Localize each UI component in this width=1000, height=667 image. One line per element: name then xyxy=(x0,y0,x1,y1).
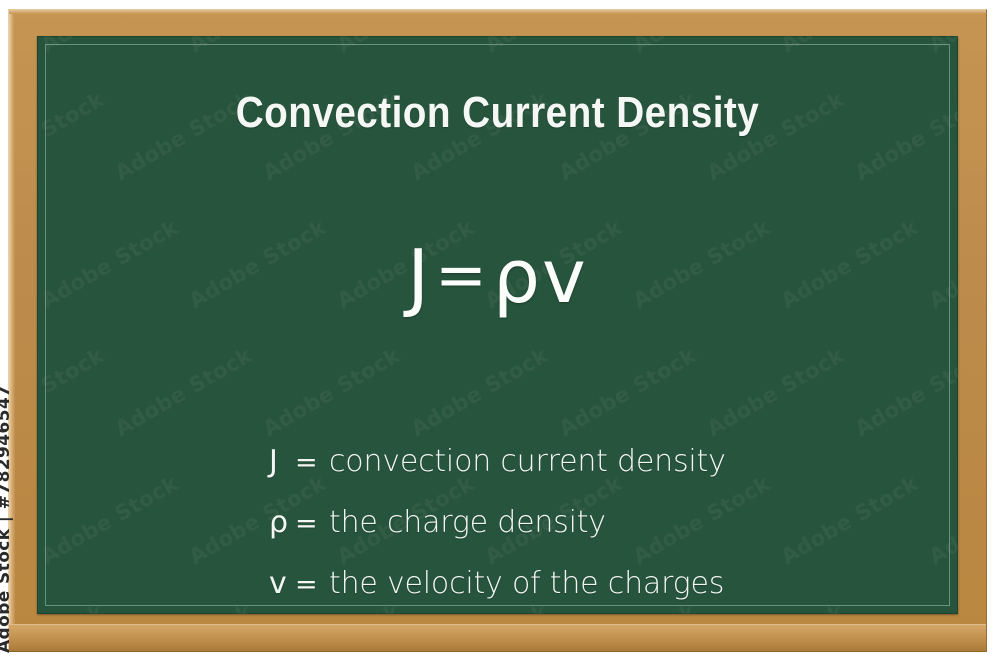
list-item: v = the velocity of the charges xyxy=(269,566,726,614)
page-title: Convection Current Density xyxy=(92,88,902,138)
definition-list: J = convection current density ρ = the c… xyxy=(269,444,726,614)
chalkboard-surface: Adobe StockAdobe StockAdobe StockAdobe S… xyxy=(37,36,958,614)
definition-text: the velocity of the charges xyxy=(329,566,724,601)
definition-text: convection current density xyxy=(329,444,726,479)
formula-display: J=ρv xyxy=(37,234,958,320)
definition-text: the charge density xyxy=(329,505,606,540)
definition-equals: = xyxy=(295,447,329,478)
definition-equals: = xyxy=(295,508,329,539)
frame-bottom-ledge xyxy=(9,624,986,651)
frame-highlight-left xyxy=(9,10,15,651)
board-wooden-frame: Adobe StockAdobe StockAdobe StockAdobe S… xyxy=(8,9,987,652)
list-item: J = convection current density xyxy=(269,444,726,505)
formula-operator: = xyxy=(431,238,493,311)
formula-lhs: J xyxy=(407,234,431,320)
definition-symbol: J xyxy=(269,444,295,479)
definition-symbol: v xyxy=(269,566,295,601)
definition-equals: = xyxy=(295,569,329,600)
definition-symbol: ρ xyxy=(269,505,295,540)
board-content: Convection Current Density J=ρv J = conv… xyxy=(37,36,958,614)
frame-highlight-top xyxy=(9,10,986,14)
formula-rhs: ρv xyxy=(493,234,588,320)
chalkboard-illustration: Adobe StockAdobe StockAdobe StockAdobe S… xyxy=(0,0,1000,667)
list-item: ρ = the charge density xyxy=(269,505,726,566)
